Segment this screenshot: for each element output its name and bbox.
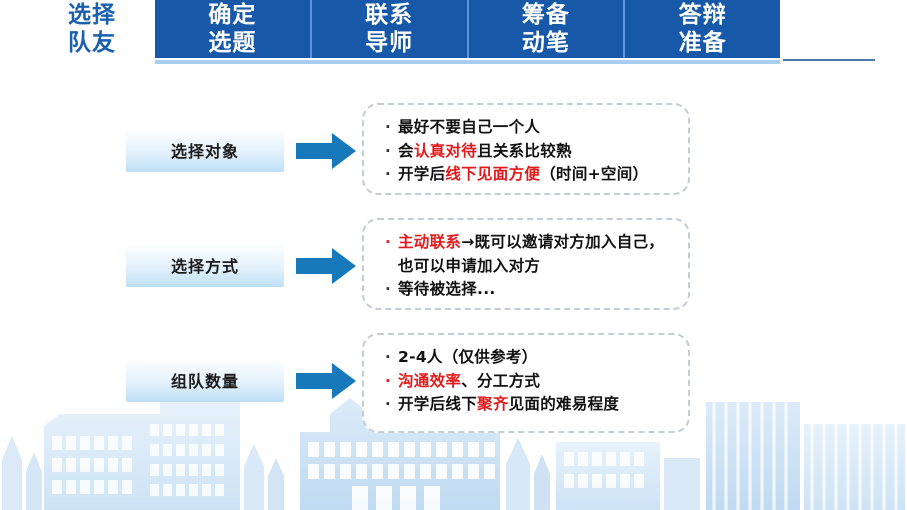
row-label-2-text: 组队数量 <box>171 368 239 392</box>
row-label-2: 组队数量 <box>126 358 284 402</box>
step-item-0[interactable]: 选择 队友 <box>36 0 148 58</box>
content-row-2: 组队数量 · 2-4人（仅供参考） · 沟通效率、分工方式 · 开学后线下聚齐见… <box>0 330 907 438</box>
step-item-3-line1: 筹备 <box>522 2 570 29</box>
bullet-dot-icon: · <box>378 163 398 186</box>
content-row-1: 选择方式 · 主动联系→既可以邀请对方加入自己，也可以申请加入对方 · 等待被选… <box>0 215 907 315</box>
bullet-box-2: · 2-4人（仅供参考） · 沟通效率、分工方式 · 开学后线下聚齐见面的难易程… <box>362 333 690 433</box>
bullet-text: 开学后线下聚齐见面的难易程度 <box>398 393 678 417</box>
bullet-dot-icon: · <box>378 370 398 393</box>
bullet-text: 最好不要自己一个人 <box>398 116 678 140</box>
bullet-item: · 主动联系→既可以邀请对方加入自己，也可以申请加入对方 <box>378 231 678 278</box>
step-item-2-line2: 导师 <box>365 30 413 57</box>
step-item-1-line1: 确定 <box>208 2 256 29</box>
bullet-dot-icon: · <box>378 116 398 139</box>
bullet-text: 等待被选择... <box>398 278 678 302</box>
bullet-text: 主动联系→既可以邀请对方加入自己，也可以申请加入对方 <box>398 231 678 278</box>
step-item-2[interactable]: 联系 导师 <box>312 0 469 58</box>
bullet-text: 2-4人（仅供参考） <box>398 346 678 370</box>
bullet-text: 沟通效率、分工方式 <box>398 370 678 394</box>
content-row-0: 选择对象 · 最好不要自己一个人 · 会认真对待且关系比较熟 · 开学后线下见面… <box>0 100 907 200</box>
bullet-item: · 开学后线下聚齐见面的难易程度 <box>378 393 678 417</box>
bullet-dot-icon: · <box>378 278 398 301</box>
bullet-dot-icon: · <box>378 140 398 163</box>
step-item-4-line1: 答辩 <box>679 2 727 29</box>
bullet-item: · 沟通效率、分工方式 <box>378 370 678 394</box>
step-item-0-line2: 队友 <box>68 30 116 57</box>
bullet-box-0: · 最好不要自己一个人 · 会认真对待且关系比较熟 · 开学后线下见面方便（时间… <box>362 103 690 195</box>
bullet-text: 开学后线下见面方便（时间+空间） <box>398 163 678 187</box>
slide-canvas: 选择 队友 确定 选题 联系 导师 筹备 动笔 答辩 准备 <box>0 0 907 510</box>
bullet-item: · 最好不要自己一个人 <box>378 116 678 140</box>
step-item-4-line2: 准备 <box>679 30 727 57</box>
step-item-0-line1: 选择 <box>68 2 116 29</box>
step-item-1-line2: 选题 <box>208 30 256 57</box>
bullet-item: · 会认真对待且关系比较熟 <box>378 140 678 164</box>
bullet-item: · 等待被选择... <box>378 278 678 302</box>
bullet-box-1: · 主动联系→既可以邀请对方加入自己，也可以申请加入对方 · 等待被选择... <box>362 218 690 310</box>
row-label-0: 选择对象 <box>126 128 284 172</box>
bullet-text: 会认真对待且关系比较熟 <box>398 140 678 164</box>
row-label-1: 选择方式 <box>126 243 284 287</box>
bullet-dot-icon: · <box>378 393 398 416</box>
right-arrow-icon <box>296 131 358 171</box>
row-label-1-text: 选择方式 <box>171 253 239 277</box>
step-tail-rule <box>783 59 875 61</box>
right-arrow-icon <box>296 246 358 286</box>
step-progress-bar: 选择 队友 确定 选题 联系 导师 筹备 动笔 答辩 准备 <box>0 0 907 62</box>
step-item-2-line1: 联系 <box>365 2 413 29</box>
row-label-0-text: 选择对象 <box>171 138 239 162</box>
step-item-4[interactable]: 答辩 准备 <box>625 0 780 58</box>
bullet-item: · 开学后线下见面方便（时间+空间） <box>378 163 678 187</box>
bullet-dot-icon: · <box>378 231 398 254</box>
step-item-3-line2: 动笔 <box>522 30 570 57</box>
step-band: 确定 选题 联系 导师 筹备 动笔 答辩 准备 <box>155 0 780 58</box>
step-band-underline <box>155 60 780 64</box>
step-item-3[interactable]: 筹备 动笔 <box>469 0 626 58</box>
bullet-dot-icon: · <box>378 346 398 369</box>
step-item-1[interactable]: 确定 选题 <box>155 0 312 58</box>
right-arrow-icon <box>296 361 358 401</box>
bullet-item: · 2-4人（仅供参考） <box>378 346 678 370</box>
